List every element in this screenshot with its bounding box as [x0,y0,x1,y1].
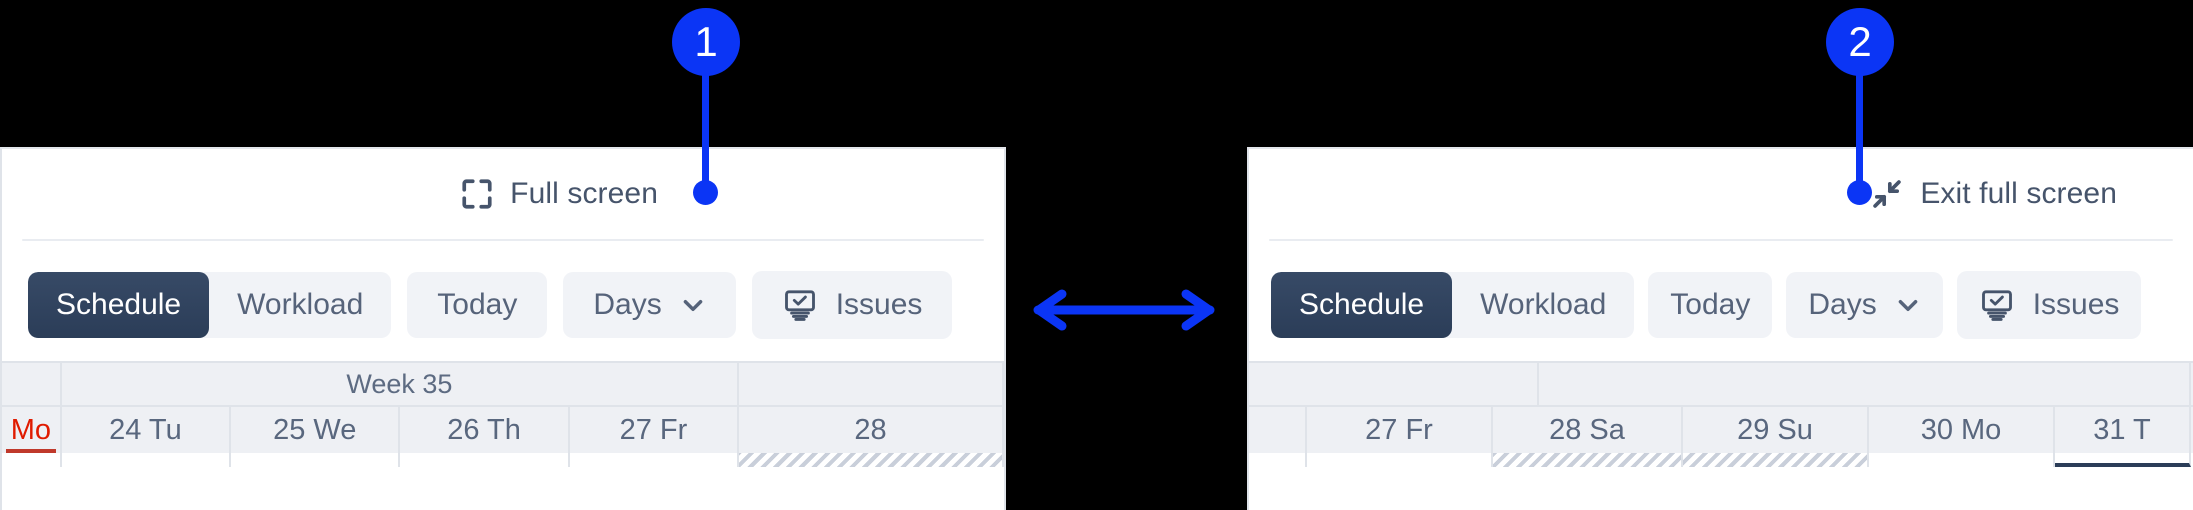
today-underline [6,449,56,453]
under-cell [2,453,62,467]
expand-corners-icon [460,177,494,211]
day-header[interactable]: 24 Tu [62,407,231,453]
day-header[interactable]: 29 Su [1683,407,1869,453]
under-cell-weekend [739,453,1004,467]
day-header[interactable]: 27 Fr [1307,407,1493,453]
under-cell [1307,453,1493,467]
week-label-overflow [739,363,1004,405]
callout-1-stem [702,74,709,191]
under-cell-selected [2055,453,2191,467]
callout-2-stem [1856,74,1863,191]
day-header[interactable]: 30 Mo [1869,407,2055,453]
view-mode-segmented-control: Schedule Workload [1271,272,1634,339]
callout-1-badge: 1 [672,8,740,76]
callout-2-dot [1847,180,1872,205]
today-button[interactable]: Today [1648,272,1772,339]
days-dropdown-label: Days [1808,288,1876,323]
before-calendar: Week 35 Mo 24 Tu 25 We 26 Th 27 Fr 28 [2,361,1004,467]
chevron-down-icon [680,292,706,318]
before-panel: Full screen Schedule Workload Today Days [0,147,1006,510]
after-day-row: 27 Fr 28 Sa 29 Su 30 Mo 31 T [1249,407,2193,453]
before-toolbar: Schedule Workload Today Days [2,241,1004,339]
after-underline-row [1249,453,2193,467]
days-dropdown[interactable]: Days [1786,272,1942,339]
callout-2-badge: 2 [1826,8,1894,76]
day-header-partial[interactable] [1249,407,1307,453]
week-label-spacer [2,363,62,405]
day-header[interactable]: 26 Th [400,407,569,453]
day-header-today-label: Mo [11,414,51,447]
tab-schedule[interactable]: Schedule [1271,272,1452,339]
issues-label: Issues [2033,288,2120,323]
exit-full-screen-toggle[interactable]: Exit full screen [1860,171,2127,217]
week-label-spacer [1249,363,1539,405]
day-header[interactable]: 27 Fr [570,407,739,453]
day-header[interactable]: 28 Sa [1493,407,1683,453]
day-header[interactable]: 31 T [2055,407,2191,453]
today-button[interactable]: Today [407,272,547,339]
under-cell-weekend [1493,453,1683,467]
under-cell-weekend [1683,453,1869,467]
chevron-down-icon [1895,292,1921,318]
full-screen-label: Full screen [510,177,658,211]
issues-button[interactable]: Issues [752,271,953,339]
before-underline-row [2,453,1004,467]
after-calendar: 27 Fr 28 Sa 29 Su 30 Mo 31 T [1249,361,2193,467]
issues-label: Issues [836,288,923,323]
before-week-row: Week 35 [2,363,1004,407]
tab-schedule[interactable]: Schedule [28,272,209,339]
double-headed-arrow-icon [1028,286,1220,334]
days-dropdown[interactable]: Days [563,272,735,339]
after-toolbar: Schedule Workload Today Days [1249,241,2193,339]
tab-workload[interactable]: Workload [209,272,391,339]
week-label: Week 35 [62,363,739,405]
days-dropdown-label: Days [593,288,661,323]
under-cell [570,453,739,467]
under-cell [62,453,231,467]
before-fullscreen-row: Full screen [2,149,1004,239]
week-label [1539,363,2191,405]
before-day-row: Mo 24 Tu 25 We 26 Th 27 Fr 28 [2,407,1004,453]
collapse-arrows-icon [1870,177,1904,211]
monitor-check-icon [1979,287,2015,323]
callout-1-dot [693,180,718,205]
after-panel: Exit full screen Schedule Workload Today… [1247,147,2193,510]
day-header-today[interactable]: Mo [2,407,62,453]
under-cell [1869,453,2055,467]
tab-workload[interactable]: Workload [1452,272,1634,339]
issues-button[interactable]: Issues [1957,271,2142,339]
view-mode-segmented-control: Schedule Workload [28,272,391,339]
under-cell [400,453,569,467]
day-header[interactable]: 25 We [231,407,400,453]
under-cell [231,453,400,467]
comparison-figure: Full screen Schedule Workload Today Days [0,0,2193,510]
after-fullscreen-row: Exit full screen [1249,149,2193,239]
full-screen-toggle[interactable]: Full screen [450,171,668,217]
monitor-check-icon [782,287,818,323]
exit-full-screen-label: Exit full screen [1920,177,2117,211]
day-header[interactable]: 28 [739,407,1004,453]
after-week-row [1249,363,2193,407]
under-cell [1249,453,1307,467]
